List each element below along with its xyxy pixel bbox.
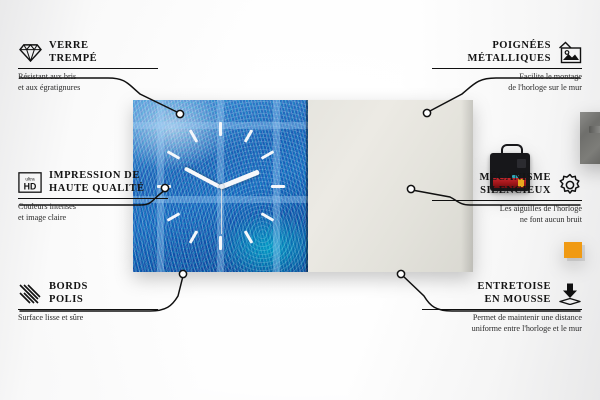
infographic-canvas: VERRE TREMPÉ Résistant aux bris et aux é… xyxy=(0,0,600,400)
callout-title-line1: POIGNÉES xyxy=(468,40,551,53)
callout-desc-line1: Facilite le montage xyxy=(432,72,582,82)
callout-title-line2: SILENCIEUX xyxy=(480,185,551,198)
connector-endpoint-mecanisme xyxy=(407,185,414,192)
connector-endpoint-entretoise xyxy=(397,270,404,277)
callout-divider xyxy=(18,198,168,199)
callout-desc-line1: Les aiguilles de l'horloge xyxy=(432,204,582,214)
callout-desc-line2: ne font aucun bruit xyxy=(432,215,582,225)
callout-desc-line1: Permet de maintenir une distance xyxy=(422,313,582,323)
connector-endpoint-poignees xyxy=(423,109,430,116)
callout-title-line1: ENTRETOISE xyxy=(477,281,551,294)
gear-icon xyxy=(558,173,582,197)
polished-edge-icon xyxy=(18,282,42,306)
callout-poignees-metalliques[interactable]: POIGNÉES MÉTALLIQUES Facilite le montage… xyxy=(432,40,582,93)
callout-desc-line1: Couleurs intenses xyxy=(18,202,168,212)
callout-title-line2: TREMPÉ xyxy=(49,53,97,66)
diamond-icon xyxy=(18,41,42,65)
callout-desc-line2: et aux égratignures xyxy=(18,83,158,93)
down-arrow-spacer-icon xyxy=(558,282,582,306)
callout-verre-trempe[interactable]: VERRE TREMPÉ Résistant aux bris et aux é… xyxy=(18,40,158,93)
callout-divider xyxy=(432,200,582,201)
callout-title-line2: EN MOUSSE xyxy=(477,294,551,307)
callout-title-line1: BORDS xyxy=(49,281,88,294)
connector-endpoint-verre-trempe xyxy=(176,110,183,117)
picture-hanger-icon xyxy=(558,41,582,65)
callout-mecanisme-silencieux[interactable]: MÉCANISME SILENCIEUX Les aiguilles de l'… xyxy=(432,172,582,225)
callout-desc-line1: Résistant aux bris xyxy=(18,72,158,82)
callout-desc-line2: de l'horloge sur le mur xyxy=(432,83,582,93)
callout-desc-line2: uniforme entre l'horloge et le mur xyxy=(422,324,582,334)
callout-impression-haute-qualite[interactable]: ultra HD IMPRESSION DE HAUTE QUALITÉ Cou… xyxy=(18,170,168,223)
callout-bords-polis[interactable]: BORDS POLIS Surface lisse et sûre xyxy=(18,281,158,324)
callout-title-line2: MÉTALLIQUES xyxy=(468,53,551,66)
ultra-hd-badge-icon: ultra HD xyxy=(18,171,42,195)
callout-desc-line1: Surface lisse et sûre xyxy=(18,313,158,323)
callout-divider xyxy=(422,309,582,310)
callout-title-line2: POLIS xyxy=(49,294,88,307)
callout-divider xyxy=(18,309,158,310)
callout-entretoise-en-mousse[interactable]: ENTRETOISE EN MOUSSE Permet de maintenir… xyxy=(422,281,582,334)
callout-title-line1: VERRE xyxy=(49,40,97,53)
callout-title-line2: HAUTE QUALITÉ xyxy=(49,183,145,196)
callout-divider xyxy=(432,68,582,69)
callout-divider xyxy=(18,68,158,69)
callout-title-line1: MÉCANISME xyxy=(480,172,551,185)
connector-endpoint-bords-polis xyxy=(179,270,186,277)
callout-title-line1: IMPRESSION DE xyxy=(49,170,145,183)
callout-desc-line2: et image claire xyxy=(18,213,168,223)
svg-text:HD: HD xyxy=(24,181,37,191)
